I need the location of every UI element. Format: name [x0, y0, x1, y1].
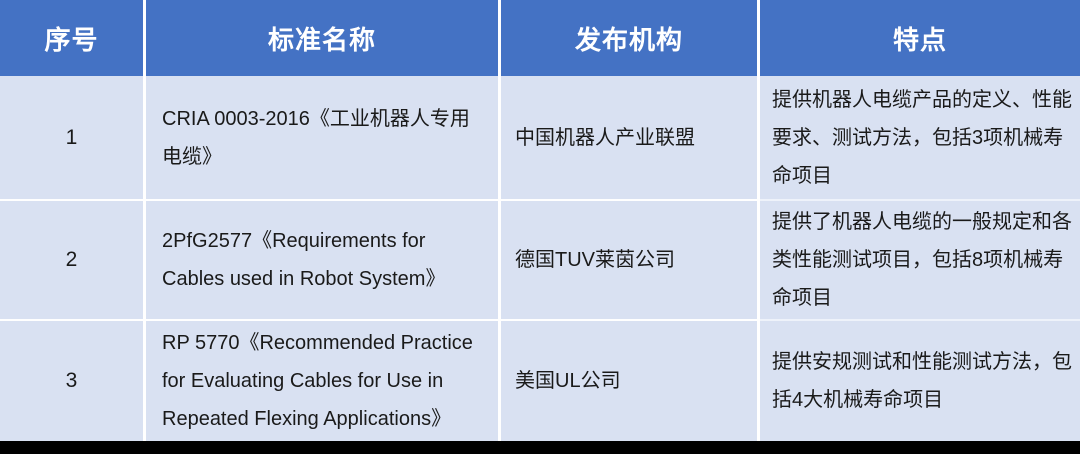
table-row: 2 2PfG2577《Requirements for Cables used … — [0, 201, 1080, 321]
table-row: 3 RP 5770《Recommended Practice for Evalu… — [0, 321, 1080, 441]
cell-issuing-organization: 美国UL公司 — [501, 321, 760, 441]
cell-serial-number: 1 — [0, 76, 146, 201]
column-header-standard-name: 标准名称 — [146, 0, 501, 76]
column-header-serial-number: 序号 — [0, 0, 146, 76]
table-header-row: 序号 标准名称 发布机构 特点 — [0, 0, 1080, 76]
cell-serial-number: 3 — [0, 321, 146, 441]
table-header: 序号 标准名称 发布机构 特点 — [0, 0, 1080, 76]
page-root: 序号 标准名称 发布机构 特点 1 CRIA 0003-2016《工业机器人专用… — [0, 0, 1080, 454]
cell-issuing-organization: 德国TUV莱茵公司 — [501, 201, 760, 321]
standards-table: 序号 标准名称 发布机构 特点 1 CRIA 0003-2016《工业机器人专用… — [0, 0, 1080, 441]
table-body: 1 CRIA 0003-2016《工业机器人专用电缆》 中国机器人产业联盟 提供… — [0, 76, 1080, 441]
cell-features: 提供安规测试和性能测试方法，包括4大机械寿命项目 — [760, 321, 1080, 441]
column-header-issuing-organization: 发布机构 — [501, 0, 760, 76]
bottom-letterbox-bar — [0, 441, 1080, 454]
cell-standard-name: CRIA 0003-2016《工业机器人专用电缆》 — [146, 76, 501, 201]
cell-standard-name: 2PfG2577《Requirements for Cables used in… — [146, 201, 501, 321]
column-header-features: 特点 — [760, 0, 1080, 76]
cell-standard-name: RP 5770《Recommended Practice for Evaluat… — [146, 321, 501, 441]
cell-features: 提供机器人电缆产品的定义、性能要求、测试方法，包括3项机械寿命项目 — [760, 76, 1080, 201]
cell-issuing-organization: 中国机器人产业联盟 — [501, 76, 760, 201]
cell-features: 提供了机器人电缆的一般规定和各类性能测试项目，包括8项机械寿命项目 — [760, 201, 1080, 321]
cell-serial-number: 2 — [0, 201, 146, 321]
table-row: 1 CRIA 0003-2016《工业机器人专用电缆》 中国机器人产业联盟 提供… — [0, 76, 1080, 201]
